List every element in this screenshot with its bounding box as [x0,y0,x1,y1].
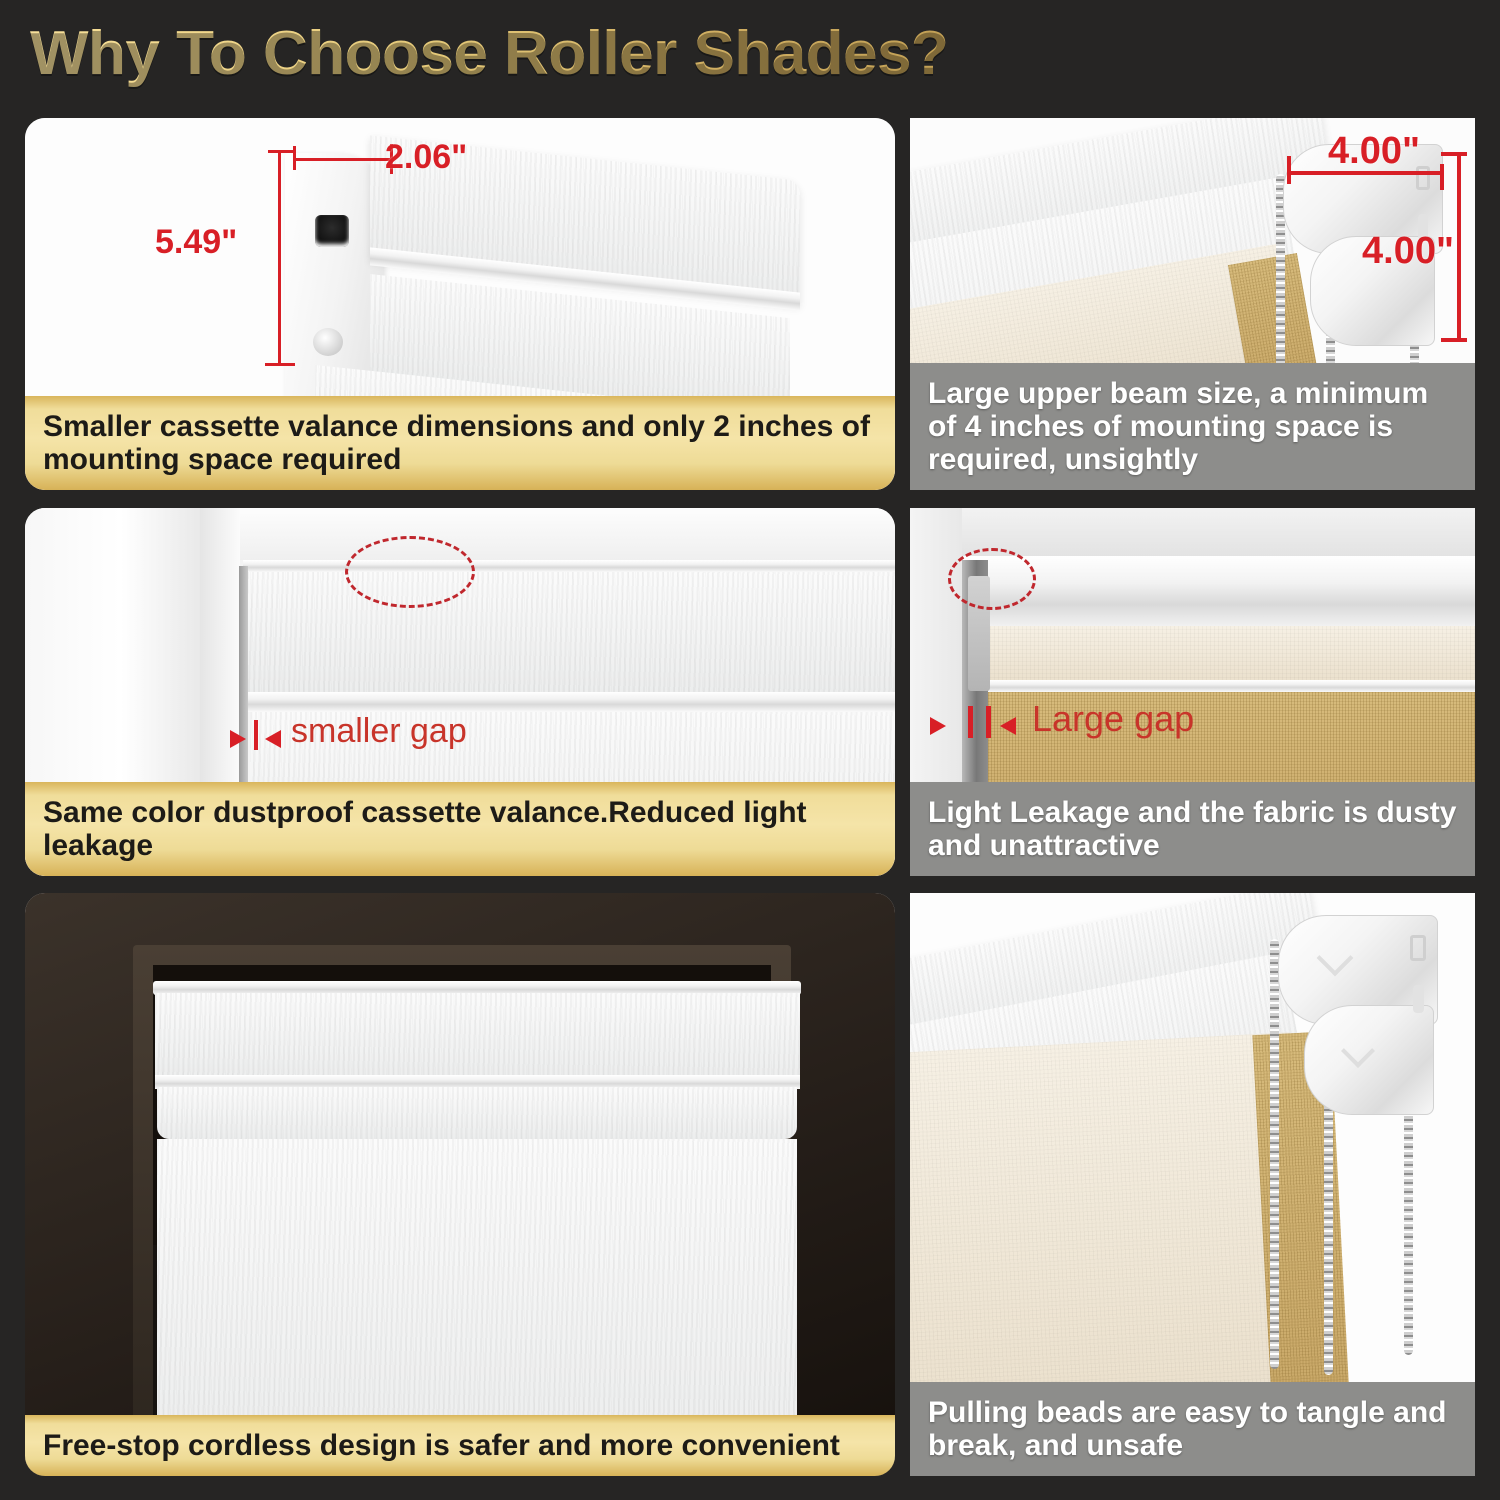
caption-text: Smaller cassette valance dimensions and … [43,410,879,476]
beam-width-tick-right [1440,164,1444,190]
bracket-slot-lower [1413,985,1424,1013]
caption-text: Large upper beam size, a minimum of 4 in… [928,377,1459,476]
valance-bottom-lip [247,692,895,712]
bead-chain-left [1270,939,1279,1369]
panel-caption: Same color dustproof cassette valance.Re… [25,782,895,876]
gap-marker-bar-left [968,706,973,738]
panel-pulling-beads: Pulling beads are easy to tangle and bre… [910,893,1475,1476]
panel-cassette-size: 2.06" 5.49" Smaller cassette valance dim… [25,118,895,490]
caption-text: Light Leakage and the fabric is dusty an… [928,796,1459,862]
panel-light-leakage: Large gap Light Leakage and the fabric i… [910,508,1475,876]
height-dim-tick-top [268,150,294,153]
height-dim-line [278,150,281,365]
beige-shade-fabric [910,1032,1310,1438]
width-dimension-label: 2.06" [385,138,467,177]
beam-width-label: 4.00" [1328,130,1420,173]
page-title: Why To Choose Roller Shades? [30,18,948,89]
gap-arrow-left [930,717,946,735]
headrail [962,556,1475,634]
panel-caption: Pulling beads are easy to tangle and bre… [910,1382,1475,1476]
panel-caption: Light Leakage and the fabric is dusty an… [910,782,1475,876]
beam-height-label: 4.00" [1362,230,1454,273]
panel-smaller-gap: smaller gap Same color dustproof cassett… [25,508,895,876]
gap-arrow-left [230,730,246,748]
headrail-bottom-lip [962,680,1475,692]
valance-face [247,572,895,692]
panel-cordless: Free-stop cordless design is safer and m… [25,893,895,1476]
cord-slot [315,215,349,247]
bead-chain-right [1404,1105,1413,1355]
gap-marker-bar [254,720,258,750]
caption-text: Free-stop cordless design is safer and m… [43,1429,840,1462]
gap-arrow-right [1000,717,1016,735]
bracket-slot-upper [1410,935,1426,961]
beam-height-dim-line [1457,152,1461,342]
cordless-window-photo [25,893,895,1476]
title-bar: Why To Choose Roller Shades? [0,0,1500,112]
cassette-face [155,993,800,1079]
gap-highlight-ring [948,548,1036,610]
gap-marker-bar-right [986,706,991,738]
end-cap [285,153,383,403]
window-frame-top [200,508,895,560]
height-dim-tick-bottom [265,363,295,366]
cassette-valance [243,560,895,572]
panel-caption: Smaller cassette valance dimensions and … [25,396,895,490]
panel-caption: Free-stop cordless design is safer and m… [25,1415,895,1476]
beam-width-tick-left [1287,156,1291,184]
beam-height-tick-top [1441,152,1467,156]
width-dim-line [293,158,393,161]
gap-callout-label: Large gap [1032,698,1194,740]
screw-boss [313,328,343,356]
caption-text: Same color dustproof cassette valance.Re… [43,796,879,862]
height-dimension-label: 5.49" [155,223,237,262]
caption-text: Pulling beads are easy to tangle and bre… [928,1396,1459,1462]
cassette-roll [157,1087,797,1139]
beam-height-tick-bottom [1441,338,1467,342]
gap-highlight-ring [345,536,475,608]
shade-fabric [157,1139,797,1445]
panel-large-beam: 4.00" 4.00" Large upper beam size, a min… [910,118,1475,490]
panel-caption: Large upper beam size, a minimum of 4 in… [910,363,1475,490]
beige-roll [962,626,1475,686]
gap-callout-label: smaller gap [291,712,467,751]
gap-arrow-right [265,730,281,748]
lower-bracket [1304,1005,1434,1115]
